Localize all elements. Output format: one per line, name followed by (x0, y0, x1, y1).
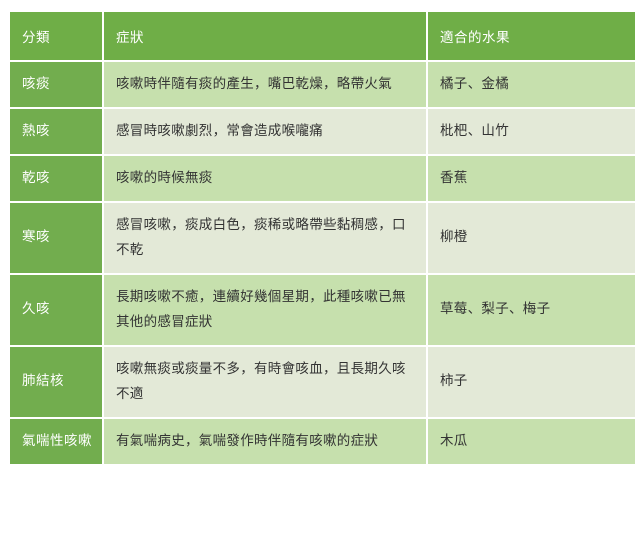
cell-fruit: 香蕉 (428, 156, 635, 201)
column-header-symptom: 症狀 (104, 12, 426, 60)
cell-category: 氣喘性咳嗽 (10, 419, 102, 464)
cell-fruit: 枇杷、山竹 (428, 109, 635, 154)
table-header: 分類 症狀 適合的水果 (10, 12, 635, 60)
cell-symptom: 感冒時咳嗽劇烈，常會造成喉嚨痛 (104, 109, 426, 154)
cell-category: 咳痰 (10, 62, 102, 107)
cell-symptom: 長期咳嗽不癒，連續好幾個星期，此種咳嗽已無其他的感冒症狀 (104, 275, 426, 345)
table-header-row: 分類 症狀 適合的水果 (10, 12, 635, 60)
cell-category: 寒咳 (10, 203, 102, 273)
cell-fruit: 橘子、金橘 (428, 62, 635, 107)
cell-symptom: 咳嗽無痰或痰量不多，有時會咳血，且長期久咳不適 (104, 347, 426, 417)
table-row: 久咳長期咳嗽不癒，連續好幾個星期，此種咳嗽已無其他的感冒症狀草莓、梨子、梅子 (10, 275, 635, 345)
cell-category: 乾咳 (10, 156, 102, 201)
cell-symptom: 感冒咳嗽，痰成白色，痰稀或略帶些黏稠感，口不乾 (104, 203, 426, 273)
table-row: 寒咳感冒咳嗽，痰成白色，痰稀或略帶些黏稠感，口不乾柳橙 (10, 203, 635, 273)
cell-fruit: 木瓜 (428, 419, 635, 464)
cell-category: 熱咳 (10, 109, 102, 154)
cell-symptom: 有氣喘病史，氣喘發作時伴隨有咳嗽的症狀 (104, 419, 426, 464)
table-row: 乾咳咳嗽的時候無痰香蕉 (10, 156, 635, 201)
cough-fruit-table: 分類 症狀 適合的水果 咳痰咳嗽時伴隨有痰的產生，嘴巴乾燥，略帶火氣橘子、金橘熱… (8, 10, 637, 466)
cell-fruit: 柿子 (428, 347, 635, 417)
cell-category: 肺結核 (10, 347, 102, 417)
column-header-fruit: 適合的水果 (428, 12, 635, 60)
cell-symptom: 咳嗽時伴隨有痰的產生，嘴巴乾燥，略帶火氣 (104, 62, 426, 107)
cough-fruit-table-container: 分類 症狀 適合的水果 咳痰咳嗽時伴隨有痰的產生，嘴巴乾燥，略帶火氣橘子、金橘熱… (8, 10, 637, 528)
column-header-category: 分類 (10, 12, 102, 60)
cell-fruit: 柳橙 (428, 203, 635, 273)
cell-symptom: 咳嗽的時候無痰 (104, 156, 426, 201)
table-row: 咳痰咳嗽時伴隨有痰的產生，嘴巴乾燥，略帶火氣橘子、金橘 (10, 62, 635, 107)
table-row: 氣喘性咳嗽有氣喘病史，氣喘發作時伴隨有咳嗽的症狀木瓜 (10, 419, 635, 464)
table-body: 咳痰咳嗽時伴隨有痰的產生，嘴巴乾燥，略帶火氣橘子、金橘熱咳感冒時咳嗽劇烈，常會造… (10, 62, 635, 464)
cell-fruit: 草莓、梨子、梅子 (428, 275, 635, 345)
table-row: 肺結核咳嗽無痰或痰量不多，有時會咳血，且長期久咳不適柿子 (10, 347, 635, 417)
cell-category: 久咳 (10, 275, 102, 345)
table-row: 熱咳感冒時咳嗽劇烈，常會造成喉嚨痛枇杷、山竹 (10, 109, 635, 154)
